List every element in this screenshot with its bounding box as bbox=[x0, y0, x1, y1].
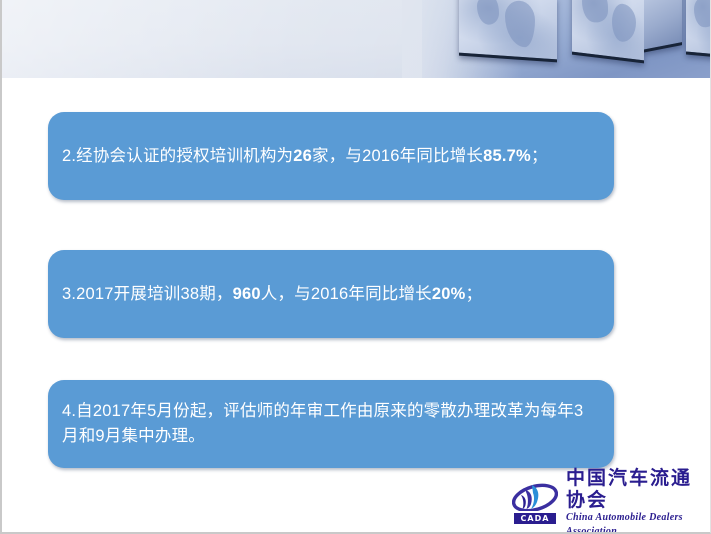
world-map-blob bbox=[505, 0, 535, 48]
header-glow-overlay bbox=[2, 0, 482, 78]
cube-front-face bbox=[459, 0, 557, 62]
callout-text-3: 4.自2017年5月份起，评估师的年审工作由原来的零散办理改革为每年3月和9月集… bbox=[62, 399, 600, 449]
callout-text-2: 3.2017开展培训38期，960人，与2016年同比增长20%； bbox=[62, 282, 600, 307]
cube-a-icon bbox=[459, 0, 557, 62]
cada-name-cn: 中国汽车流通协会 bbox=[566, 467, 706, 511]
presentation-slide: 2.经协会认证的授权培训机构为26家，与2016年同比增长85.7%； 3.20… bbox=[0, 0, 711, 534]
cube-front-face bbox=[572, 0, 644, 63]
callout-box-1: 2.经协会认证的授权培训机构为26家，与2016年同比增长85.7%； bbox=[48, 112, 614, 200]
swoosh-icon bbox=[512, 483, 558, 511]
cube-b-icon bbox=[572, 0, 682, 66]
cada-name-en: China Automobile Dealers Association bbox=[566, 511, 706, 534]
callout-box-3: 4.自2017年5月份起，评估师的年审工作由原来的零散办理改革为每年3月和9月集… bbox=[48, 380, 614, 468]
cada-logo-words: 中国汽车流通协会 China Automobile Dealers Associ… bbox=[566, 467, 706, 534]
world-map-blob bbox=[612, 2, 636, 43]
cube-front-face bbox=[686, 0, 711, 59]
world-map-blob bbox=[582, 0, 608, 24]
world-map-blob bbox=[477, 0, 499, 25]
callout-text-1: 2.经协会认证的授权培训机构为26家，与2016年同比增长85.7%； bbox=[62, 144, 600, 169]
cube-side-face bbox=[642, 0, 682, 53]
slide-header-banner bbox=[2, 0, 711, 78]
world-map-blob bbox=[694, 0, 711, 28]
cada-logo: CADA 中国汽车流通协会 China Automobile Dealers A… bbox=[510, 480, 706, 526]
cube-c-icon bbox=[686, 0, 711, 62]
cada-mark-text: CADA bbox=[514, 513, 556, 524]
cada-emblem-icon: CADA bbox=[510, 481, 562, 525]
callout-box-2: 3.2017开展培训38期，960人，与2016年同比增长20%； bbox=[48, 250, 614, 338]
